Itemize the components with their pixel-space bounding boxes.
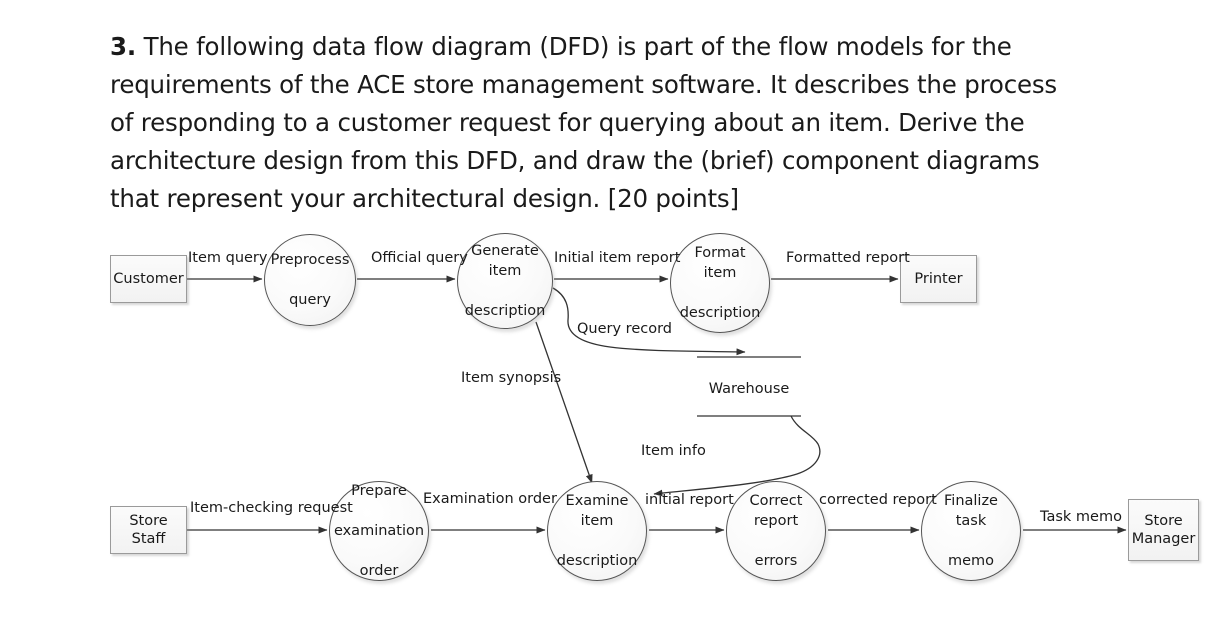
dfd-diagram: Customer Printer Store Staff Store Manag…: [0, 0, 1231, 619]
process-finalize-task-memo-line1: Finalize task: [928, 491, 1014, 531]
entity-store-manager[interactable]: Store Manager: [1128, 499, 1199, 561]
flow-label-query-record: Query record: [577, 321, 672, 338]
page-root: 3. The following data flow diagram (DFD)…: [0, 0, 1231, 619]
process-format-item-description-line1: Format item: [674, 243, 767, 283]
process-examine-item-description-line2: description: [551, 551, 644, 571]
process-prepare-examination-order-line2: examination: [328, 521, 430, 541]
process-format-item-description-line2: description: [674, 303, 767, 323]
process-examine-item-description[interactable]: Examine itemdescription: [547, 481, 647, 581]
process-preprocess-query-line1: Preprocess: [265, 250, 356, 270]
entity-store-staff[interactable]: Store Staff: [110, 506, 187, 554]
flow-label-item-info: Item info: [641, 443, 706, 460]
flow-label-item-query: Item query: [188, 250, 267, 267]
process-preprocess-query-line2: query: [265, 290, 356, 310]
flow-label-initial-item-report: Initial item report: [554, 250, 680, 267]
process-correct-report-errors-line2: errors: [733, 551, 819, 571]
connector-item-synopsis: [536, 322, 592, 483]
process-finalize-task-memo-line2: memo: [928, 551, 1014, 571]
process-generate-item-description-line1: Generate item: [459, 241, 552, 281]
process-prepare-examination-order[interactable]: Prepareexaminationorder: [329, 481, 429, 581]
flow-label-task-memo: Task memo: [1040, 509, 1122, 526]
process-correct-report-errors-line1: Correct report: [733, 491, 819, 531]
flow-label-initial-report: initial report: [645, 492, 734, 509]
process-correct-report-errors[interactable]: Correct reporterrors: [726, 481, 826, 581]
process-prepare-examination-order-line3: order: [328, 561, 430, 581]
flow-label-item-synopsis: Item synopsis: [461, 370, 561, 387]
entity-store-staff-label: Store Staff: [111, 512, 186, 548]
entity-store-manager-label: Store Manager: [1132, 512, 1196, 548]
flow-label-official-query: Official query: [371, 250, 468, 267]
entity-printer-label: Printer: [914, 270, 962, 288]
process-prepare-examination-order-line1: Prepare: [328, 481, 430, 501]
process-generate-item-description[interactable]: Generate itemdescription: [457, 233, 553, 329]
datastore-warehouse-label: Warehouse: [697, 380, 801, 398]
entity-printer[interactable]: Printer: [900, 255, 977, 303]
process-format-item-description[interactable]: Format itemdescription: [670, 233, 770, 333]
flow-label-formatted-report: Formatted report: [786, 250, 910, 267]
process-generate-item-description-line2: description: [459, 301, 552, 321]
entity-customer-label: Customer: [113, 270, 183, 288]
flow-label-examination-order: Examination order: [423, 491, 557, 508]
process-preprocess-query[interactable]: Preprocessquery: [264, 234, 356, 326]
process-examine-item-description-line1: Examine item: [551, 491, 644, 531]
entity-customer[interactable]: Customer: [110, 255, 187, 303]
flow-label-corrected-report: corrected report: [819, 492, 937, 509]
flow-label-item-checking-request: Item-checking request: [190, 500, 353, 517]
